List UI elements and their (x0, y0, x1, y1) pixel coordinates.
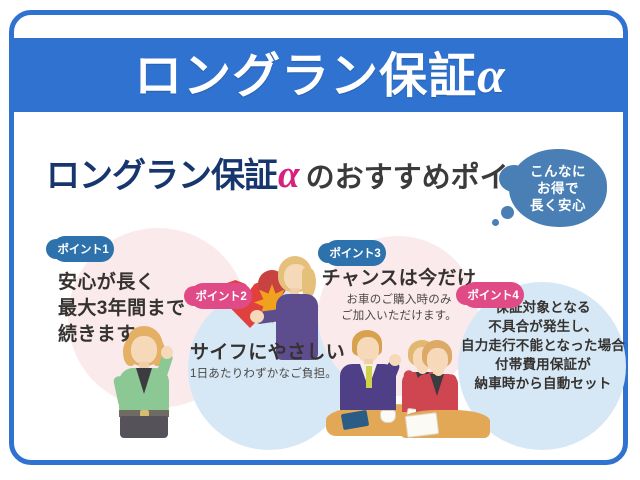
bubble-line-2: お得で (537, 180, 579, 197)
warranty-poster: ロングラン保証α ロングラン保証αのおすすめポイント こんなに お得で 長く安心 (0, 0, 640, 480)
point-4-line-4: 付帯費用保証が (458, 355, 628, 374)
point-2-badge-label: ポイント2 (196, 288, 247, 304)
green-woman-skirt (120, 416, 168, 438)
point-4-line-5: 納車時から自動セット (458, 374, 628, 393)
headline-brand: ロングラン保証 (46, 157, 277, 195)
title-banner: ロングラン保証α (14, 38, 626, 112)
desk-woman-hand (433, 364, 444, 376)
banner-title-alpha: α (477, 47, 506, 103)
headline-brand-alpha: α (278, 153, 300, 196)
point-2-line-1: サイフにやさしい (190, 340, 330, 366)
headline: ロングラン保証αのおすすめポイント (46, 155, 567, 194)
desk-document (405, 412, 439, 438)
point-4-text: 保証対象となる 不具合が発生し、 自力走行不能となった場合 付帯費用保証が 納車… (458, 298, 628, 393)
point-1-line-3: 続きます (58, 322, 185, 348)
bubble-line-1: こんなに (530, 163, 586, 180)
bubble-line-3: 長く安心 (530, 197, 586, 214)
point-1-badge: ポイント1 (52, 236, 114, 262)
point-3-badge: ポイント3 (324, 240, 386, 266)
point-2-sub-1: 1日あたりわずかなご負担。 (190, 366, 330, 382)
banner-title: ロングラン保証α (134, 50, 506, 101)
point-4-badge: ポイント4 (462, 282, 524, 308)
point-2-badge: ポイント2 (190, 283, 252, 309)
thought-bubble: こんなに お得で 長く安心 (509, 149, 607, 227)
point-3-sub-2: ご加入いただけます。 (318, 308, 480, 324)
point-1-line-1: 安心が長く (58, 270, 185, 296)
point-4-line-3: 自力走行不能となった場合 (458, 336, 628, 355)
point-1-badge-label: ポイント1 (58, 241, 109, 257)
point-3-line-1: チャンスは今だけ (318, 266, 480, 292)
point-1-line-2: 最大3年間まで (58, 296, 185, 322)
point-4-line-2: 不具合が発生し、 (458, 317, 628, 336)
point-3-badge-label: ポイント3 (330, 245, 381, 261)
bubble-tail-dot-small (492, 219, 499, 226)
point-1-text: 安心が長く 最大3年間まで 続きます (58, 270, 185, 348)
point-2-text: サイフにやさしい 1日あたりわずかなご負担。 (190, 340, 330, 382)
banner-title-main: ロングラン保証 (134, 50, 477, 103)
heart-woman-hand (250, 310, 264, 323)
point-4-badge-label: ポイント4 (468, 287, 519, 303)
coffee-cup (380, 410, 396, 423)
bubble-tail-dot-large (501, 206, 514, 219)
man-tie (366, 366, 372, 388)
